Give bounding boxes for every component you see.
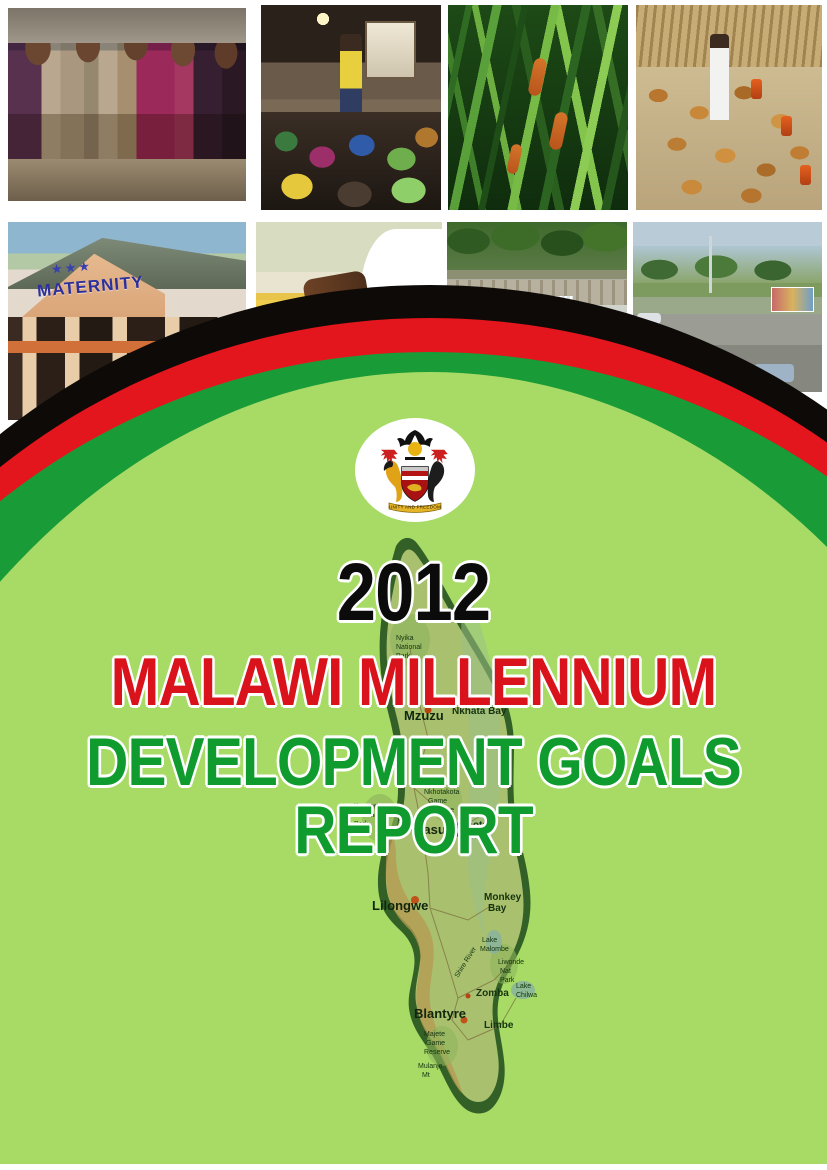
photo-decor-board bbox=[365, 21, 416, 78]
photo-schoolchildren bbox=[8, 8, 246, 201]
svg-text:Mulanje: Mulanje bbox=[418, 1063, 443, 1070]
svg-text:Chilwa: Chilwa bbox=[516, 992, 537, 999]
svg-text:Game: Game bbox=[426, 1040, 445, 1047]
report-cover-page: ★★★ MATERNITY bbox=[0, 0, 827, 1170]
photo-decor-feeder bbox=[781, 116, 792, 136]
svg-text:Zomba: Zomba bbox=[476, 988, 509, 999]
svg-text:Bay: Bay bbox=[488, 903, 507, 914]
photo-decor-billboard bbox=[771, 287, 815, 313]
shield-chief-waves bbox=[402, 467, 428, 471]
svg-text:Lake: Lake bbox=[516, 983, 531, 990]
shield-red-band bbox=[402, 471, 428, 476]
photo-decor-floor bbox=[8, 159, 246, 201]
svg-text:Reserve: Reserve bbox=[424, 1049, 450, 1056]
heraldic-flower-icon bbox=[431, 450, 448, 464]
svg-text:Lilongwe: Lilongwe bbox=[372, 898, 428, 913]
svg-text:Mt: Mt bbox=[422, 1072, 430, 1079]
svg-text:Blantyre: Blantyre bbox=[414, 1006, 466, 1021]
svg-text:Liwonde: Liwonde bbox=[498, 959, 524, 966]
crest-wavy-band bbox=[405, 457, 425, 460]
page-bottom-edge bbox=[0, 1164, 827, 1170]
photo-maize-field-image bbox=[448, 5, 628, 210]
svg-text:Park: Park bbox=[500, 977, 515, 984]
photo-maize-field bbox=[448, 5, 628, 210]
photo-decor-feeder bbox=[800, 165, 811, 185]
crest-sun-icon bbox=[408, 442, 422, 456]
photo-decor-worker bbox=[710, 34, 729, 120]
motto-text: UNITY AND FREEDOM bbox=[389, 505, 441, 510]
photo-community-meeting bbox=[261, 5, 441, 210]
coat-of-arms-svg: UNITY AND FREEDOM bbox=[377, 427, 453, 513]
page-title-line-1: MALAWI MILLENNIUM bbox=[58, 648, 769, 716]
svg-text:Monkey: Monkey bbox=[484, 892, 522, 903]
photo-decor-crowd bbox=[261, 112, 441, 210]
photo-decor-skyline bbox=[633, 246, 822, 283]
page-title-line-2: DEVELOPMENT GOALS REPORT bbox=[58, 728, 769, 864]
svg-text:Lake: Lake bbox=[482, 937, 497, 944]
svg-text:Malombe: Malombe bbox=[480, 946, 509, 953]
coat-of-arms-of-malawi: UNITY AND FREEDOM bbox=[355, 418, 475, 522]
photo-decor-wall bbox=[8, 8, 246, 43]
photo-decor-trees bbox=[447, 222, 627, 270]
supporter-leopard-icon bbox=[428, 461, 445, 502]
svg-text:Nat: Nat bbox=[500, 968, 511, 975]
photo-decor-chickens bbox=[636, 67, 822, 211]
svg-text:Majete: Majete bbox=[424, 1031, 445, 1038]
page-title-year: 2012 bbox=[58, 552, 769, 634]
svg-text:Limbe: Limbe bbox=[484, 1020, 514, 1031]
maternity-stars-icon: ★★★ bbox=[50, 258, 92, 278]
shield-wave-band bbox=[402, 476, 428, 480]
cover-title-block: 2012 MALAWI MILLENNIUM DEVELOPMENT GOALS… bbox=[0, 552, 827, 864]
photo-decor-street-light bbox=[709, 236, 712, 294]
photo-decor-rafters bbox=[636, 5, 822, 71]
photo-decor-feeder bbox=[751, 79, 762, 99]
photo-poultry-house bbox=[636, 5, 822, 210]
